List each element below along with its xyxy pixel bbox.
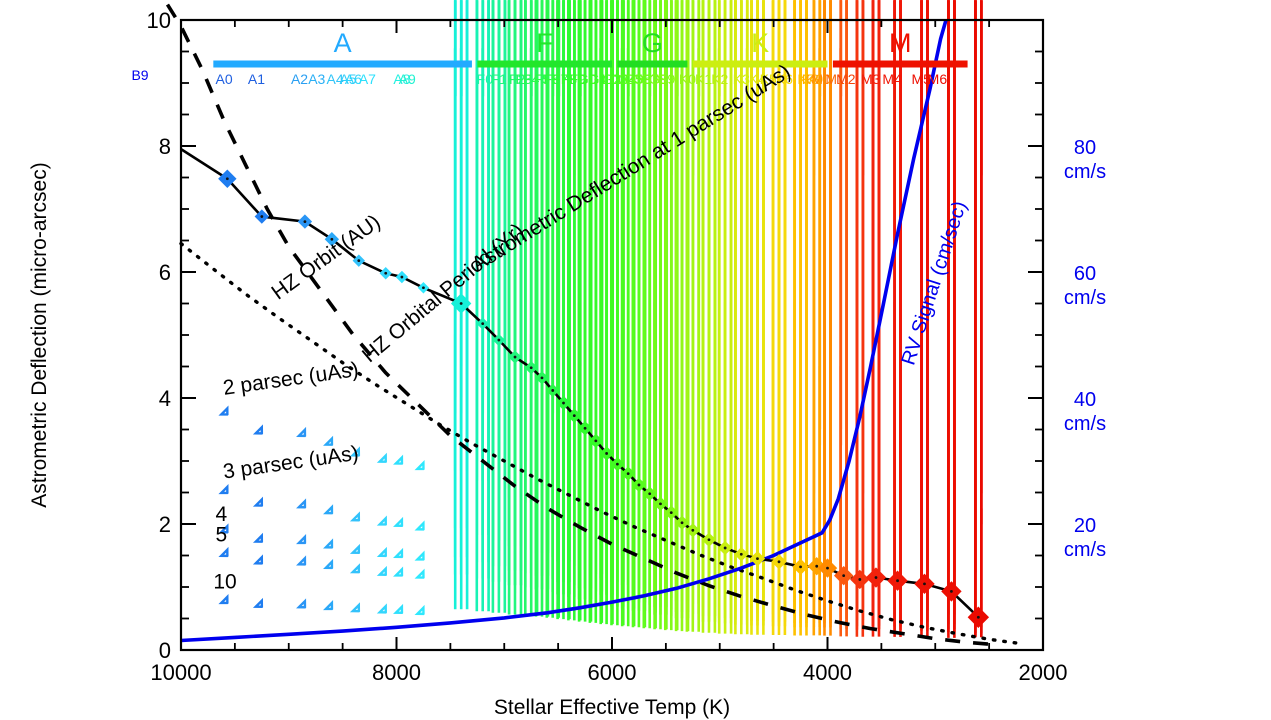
main-curve-marker-center (384, 272, 387, 275)
main-curve-marker-center (691, 529, 694, 532)
main-curve-marker-center (551, 389, 554, 392)
main-curve-marker-center (584, 427, 587, 430)
main-curve-marker-center (616, 463, 619, 466)
main-curve-marker-center (778, 560, 781, 563)
spectral-subtype-label: A0 (216, 71, 233, 87)
spectral-class-letter: F (536, 28, 553, 58)
y-tick-label: 0 (159, 638, 171, 663)
x-tick-label: 8000 (372, 660, 421, 685)
spectral-subtype-label: G9 (657, 71, 676, 87)
main-curve-marker-center (422, 286, 425, 289)
main-curve-marker-center (815, 565, 818, 568)
spectral-subtype-label: M3 (861, 71, 881, 87)
chart-annotation: 5 (215, 524, 227, 547)
main-curve-marker-center (799, 565, 802, 568)
spectral-class-letter: M (889, 28, 912, 58)
y-tick-label: 2 (159, 512, 171, 537)
main-curve-marker-center (260, 215, 263, 218)
main-curve-marker-center (858, 578, 861, 581)
main-curve-marker-center (842, 574, 845, 577)
main-curve-marker-center (681, 521, 684, 524)
chart-annotation: 4 (215, 503, 227, 526)
spectral-subtype-label: A1 (248, 71, 265, 87)
spectral-subtype-label: F1 (491, 71, 508, 87)
main-curve-marker-center (226, 177, 229, 180)
main-curve-marker-center (573, 414, 576, 417)
y2-tick-label: 20 (1074, 515, 1096, 537)
spectral-class-letter: G (642, 28, 663, 58)
y2-tick-label: 80 (1074, 137, 1096, 159)
spectral-class-letter: K (751, 28, 769, 58)
main-curve-marker-center (541, 376, 544, 379)
main-curve-marker-center (357, 259, 360, 262)
chart-canvas: 100008000600040002000024681020cm/s40cm/s… (0, 0, 1271, 720)
x-tick-label: 10000 (150, 660, 211, 685)
main-curve-marker-center (400, 276, 403, 279)
spectral-subtype-label: M6 (928, 71, 948, 87)
plot-background (0, 0, 1271, 720)
main-curve-marker-center (481, 322, 484, 325)
main-curve-marker-center (896, 579, 899, 582)
spectral-subtype-label: A7 (359, 71, 376, 87)
spectral-subtype-label: K2 (711, 71, 728, 87)
main-curve-marker-center (875, 576, 878, 579)
main-curve-marker-center (659, 502, 662, 505)
main-curve-marker-center (530, 366, 533, 369)
spectral-subtype-label: A3 (308, 71, 325, 87)
main-curve-marker-center (514, 356, 517, 359)
main-curve-marker-center (826, 567, 829, 570)
y2-tick-unit: cm/s (1064, 413, 1106, 435)
main-curve-marker-center (950, 590, 953, 593)
x-tick-label: 6000 (588, 660, 637, 685)
main-curve-marker-center (923, 582, 926, 585)
y-axis-title: Astrometric Deflection (micro-arcsec) (28, 162, 51, 507)
spectral-subtype-label: K0 (679, 71, 696, 87)
y2-tick-label: 60 (1074, 263, 1096, 285)
chart-annotation: 10 (213, 570, 236, 593)
x-tick-label: 4000 (803, 660, 852, 685)
spectral-subtype-label: M4 (882, 71, 902, 87)
spectral-subtype-label-outside: B9 (131, 67, 148, 83)
spectral-subtype-label: M2 (836, 71, 856, 87)
main-curve-marker-center (460, 302, 463, 305)
x-tick-label: 2000 (1019, 660, 1068, 685)
main-curve-marker-center (670, 511, 673, 514)
spectral-subtype-label: A2 (291, 71, 308, 87)
y-tick-label: 8 (159, 134, 171, 159)
main-curve-marker-center (562, 402, 565, 405)
spectral-subtype-label: K1 (695, 71, 712, 87)
y-tick-label: 6 (159, 260, 171, 285)
main-curve-marker-center (605, 452, 608, 455)
spectral-subtype-label: A9 (399, 71, 416, 87)
main-curve-marker-center (977, 616, 980, 619)
y2-tick-label: 40 (1074, 389, 1096, 411)
main-curve-marker-center (648, 492, 651, 495)
x-axis-title: Stellar Effective Temp (K) (494, 696, 730, 719)
spectral-class-letter: A (334, 28, 352, 58)
y2-tick-unit: cm/s (1064, 539, 1106, 561)
y-tick-label: 10 (147, 8, 171, 33)
main-curve-marker-center (594, 439, 597, 442)
y-tick-label: 4 (159, 386, 171, 411)
main-curve-marker-center (740, 553, 743, 556)
main-curve-marker-center (708, 538, 711, 541)
y2-tick-unit: cm/s (1064, 161, 1106, 183)
main-curve-marker-center (638, 484, 641, 487)
main-curve-marker-center (497, 339, 500, 342)
main-curve-marker-center (627, 472, 630, 475)
main-curve-marker-center (304, 220, 307, 223)
y2-tick-unit: cm/s (1064, 287, 1106, 309)
main-curve-marker-center (756, 557, 759, 560)
astrometric-deflection-chart: 100008000600040002000024681020cm/s40cm/s… (0, 0, 1271, 720)
main-curve-marker-center (724, 547, 727, 550)
